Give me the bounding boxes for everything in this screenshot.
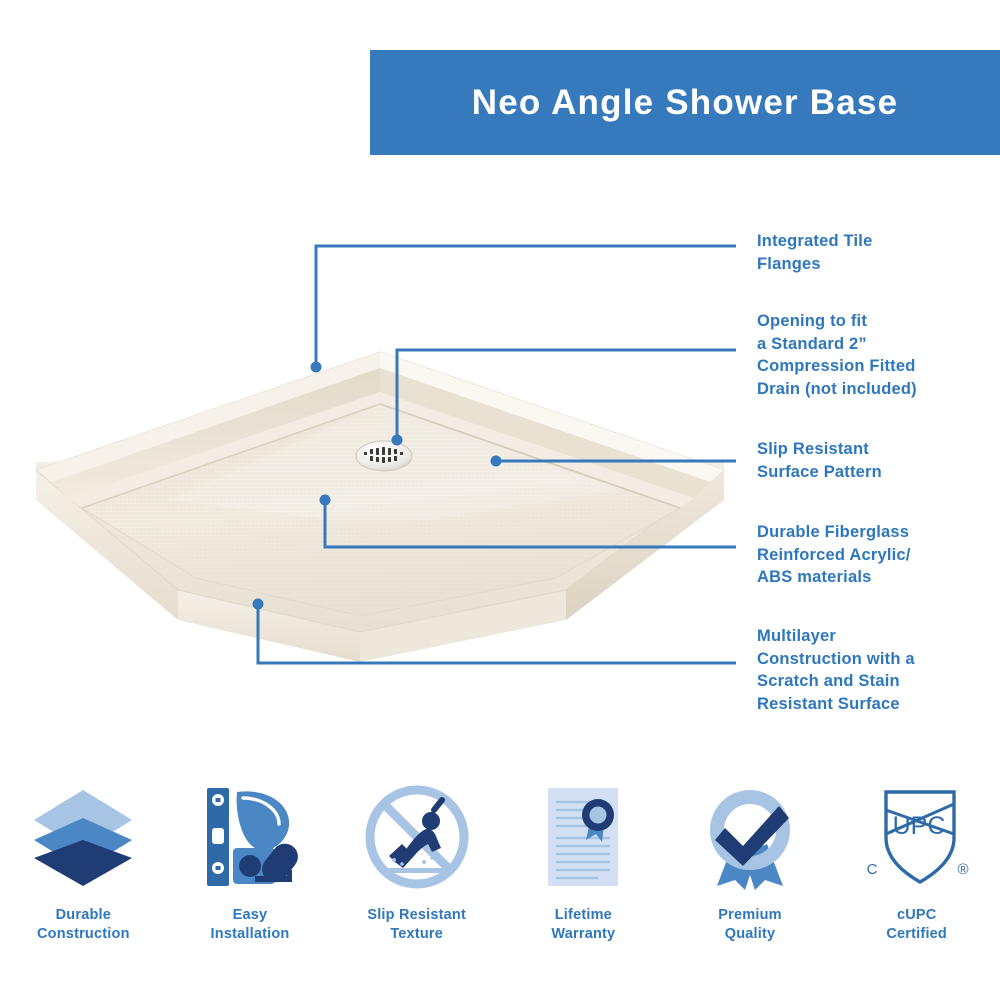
feature-label: Premium Quality bbox=[718, 906, 781, 944]
feature-slip-resistant-texture: Slip Resistant Texture bbox=[333, 782, 500, 982]
feature-cupc-certified: UPC C ® cUPC Certified bbox=[833, 782, 1000, 982]
leader-multilayer-construction bbox=[258, 604, 736, 663]
feature-label: Durable Construction bbox=[37, 906, 130, 944]
title-banner: Neo Angle Shower Base bbox=[370, 50, 1000, 155]
callout-line: Durable Fiberglass bbox=[757, 521, 1000, 544]
no-slip-icon bbox=[362, 782, 472, 892]
upc-shield-text: UPC bbox=[892, 812, 945, 840]
leader-durable-materials bbox=[325, 500, 736, 547]
leader-dot-slip-resistant-surface bbox=[491, 456, 502, 467]
callout-line: Drain (not included) bbox=[757, 378, 1000, 401]
page-title: Neo Angle Shower Base bbox=[472, 83, 899, 123]
leader-drain-opening bbox=[397, 350, 736, 440]
feature-easy-installation: Easy Installation bbox=[167, 782, 334, 982]
callout-line: Scratch and Stain bbox=[757, 670, 1000, 693]
callout-drain-opening: Opening to fit a Standard 2” Compression… bbox=[757, 310, 1000, 400]
callout-line: Reinforced Acrylic/ bbox=[757, 544, 1000, 567]
feature-durable-construction: Durable Construction bbox=[0, 782, 167, 982]
callout-line: Slip Resistant bbox=[757, 438, 1000, 461]
feature-lifetime-warranty: Lifetime Warranty bbox=[500, 782, 667, 982]
infographic-canvas: Neo Angle Shower Base Integrated Tile Fl… bbox=[0, 0, 1000, 1000]
upc-shield-icon: UPC C ® bbox=[862, 782, 972, 892]
layers-icon bbox=[28, 782, 138, 892]
callout-line: Multilayer bbox=[757, 625, 1000, 648]
leader-dot-durable-materials bbox=[320, 495, 331, 506]
callout-line: Integrated Tile bbox=[757, 230, 1000, 253]
leader-dot-integrated-tile-flanges bbox=[311, 362, 322, 373]
feature-label: Easy Installation bbox=[211, 906, 290, 944]
feature-label: Lifetime Warranty bbox=[551, 906, 615, 944]
feature-premium-quality: Premium Quality bbox=[667, 782, 834, 982]
callout-integrated-tile-flanges: Integrated Tile Flanges bbox=[757, 230, 1000, 275]
callout-line: Flanges bbox=[757, 253, 1000, 276]
leader-dot-drain-opening bbox=[392, 435, 403, 446]
feature-icons-row: Durable Construction Ea bbox=[0, 782, 1000, 982]
upc-c-mark: C bbox=[866, 861, 877, 878]
callout-line: ABS materials bbox=[757, 566, 1000, 589]
award-check-icon bbox=[695, 782, 805, 892]
callout-line: Resistant Surface bbox=[757, 693, 1000, 716]
callout-multilayer-construction: Multilayer Construction with a Scratch a… bbox=[757, 625, 1000, 715]
feature-label: cUPC Certified bbox=[886, 906, 947, 944]
callout-line: Opening to fit bbox=[757, 310, 1000, 333]
upc-registered-mark: ® bbox=[957, 861, 968, 878]
feature-label: Slip Resistant Texture bbox=[367, 906, 466, 944]
callout-line: Compression Fitted bbox=[757, 355, 1000, 378]
callout-line: a Standard 2” bbox=[757, 333, 1000, 356]
certificate-icon bbox=[528, 782, 638, 892]
callout-slip-resistant-surface: Slip Resistant Surface Pattern bbox=[757, 438, 1000, 483]
level-trowel-icon bbox=[195, 782, 305, 892]
callout-durable-materials: Durable Fiberglass Reinforced Acrylic/ A… bbox=[757, 521, 1000, 589]
callout-line: Construction with a bbox=[757, 648, 1000, 671]
leader-dot-multilayer-construction bbox=[253, 599, 264, 610]
callout-line: Surface Pattern bbox=[757, 461, 1000, 484]
